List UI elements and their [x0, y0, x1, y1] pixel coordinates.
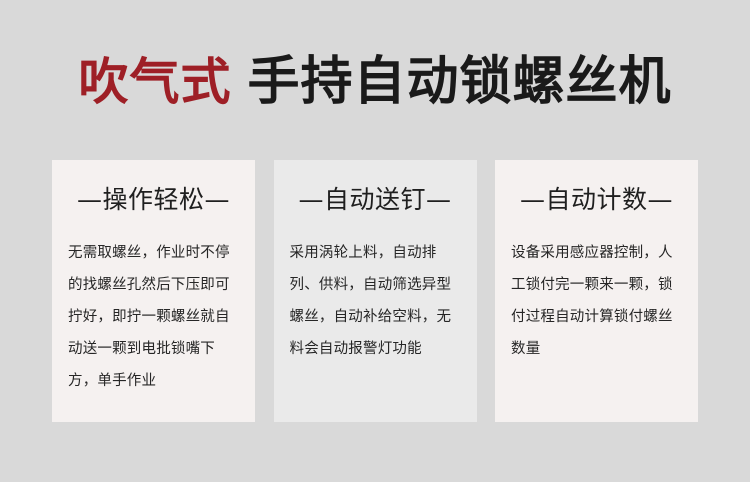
feature-card: —自动计数— 设备采用感应器控制，人工锁付完一颗来一颗，锁付过程自动计算锁付螺丝…: [495, 160, 698, 422]
feature-card-heading: —自动计数—: [520, 184, 673, 215]
page-title: 吹气式 手持自动锁螺丝机: [0, 46, 750, 118]
feature-card: —自动送钉— 采用涡轮上料，自动排列、供料，自动筛选异型螺丝，自动补给空料，无料…: [274, 160, 477, 422]
page-title-main: 手持自动锁螺丝机: [247, 56, 671, 108]
feature-card-heading: —操作轻松—: [77, 184, 230, 215]
feature-card-body: 采用涡轮上料，自动排列、供料，自动筛选异型螺丝，自动补给空料，无料会自动报警灯功…: [290, 237, 461, 365]
feature-card-list: —操作轻松— 无需取螺丝，作业时不停的找螺丝孔然后下压即可拧好，即拧一颗螺丝就自…: [52, 160, 698, 422]
feature-card-heading: —自动送钉—: [298, 184, 451, 215]
feature-card-body: 设备采用感应器控制，人工锁付完一颗来一颗，锁付过程自动计算锁付螺丝数量: [511, 237, 682, 365]
feature-card: —操作轻松— 无需取螺丝，作业时不停的找螺丝孔然后下压即可拧好，即拧一颗螺丝就自…: [52, 160, 255, 422]
page-title-accent: 吹气式: [78, 57, 231, 107]
product-feature-banner: 吹气式 手持自动锁螺丝机 —操作轻松— 无需取螺丝，作业时不停的找螺丝孔然后下压…: [0, 0, 750, 482]
feature-card-body: 无需取螺丝，作业时不停的找螺丝孔然后下压即可拧好，即拧一颗螺丝就自动送一颗到电批…: [68, 237, 239, 397]
